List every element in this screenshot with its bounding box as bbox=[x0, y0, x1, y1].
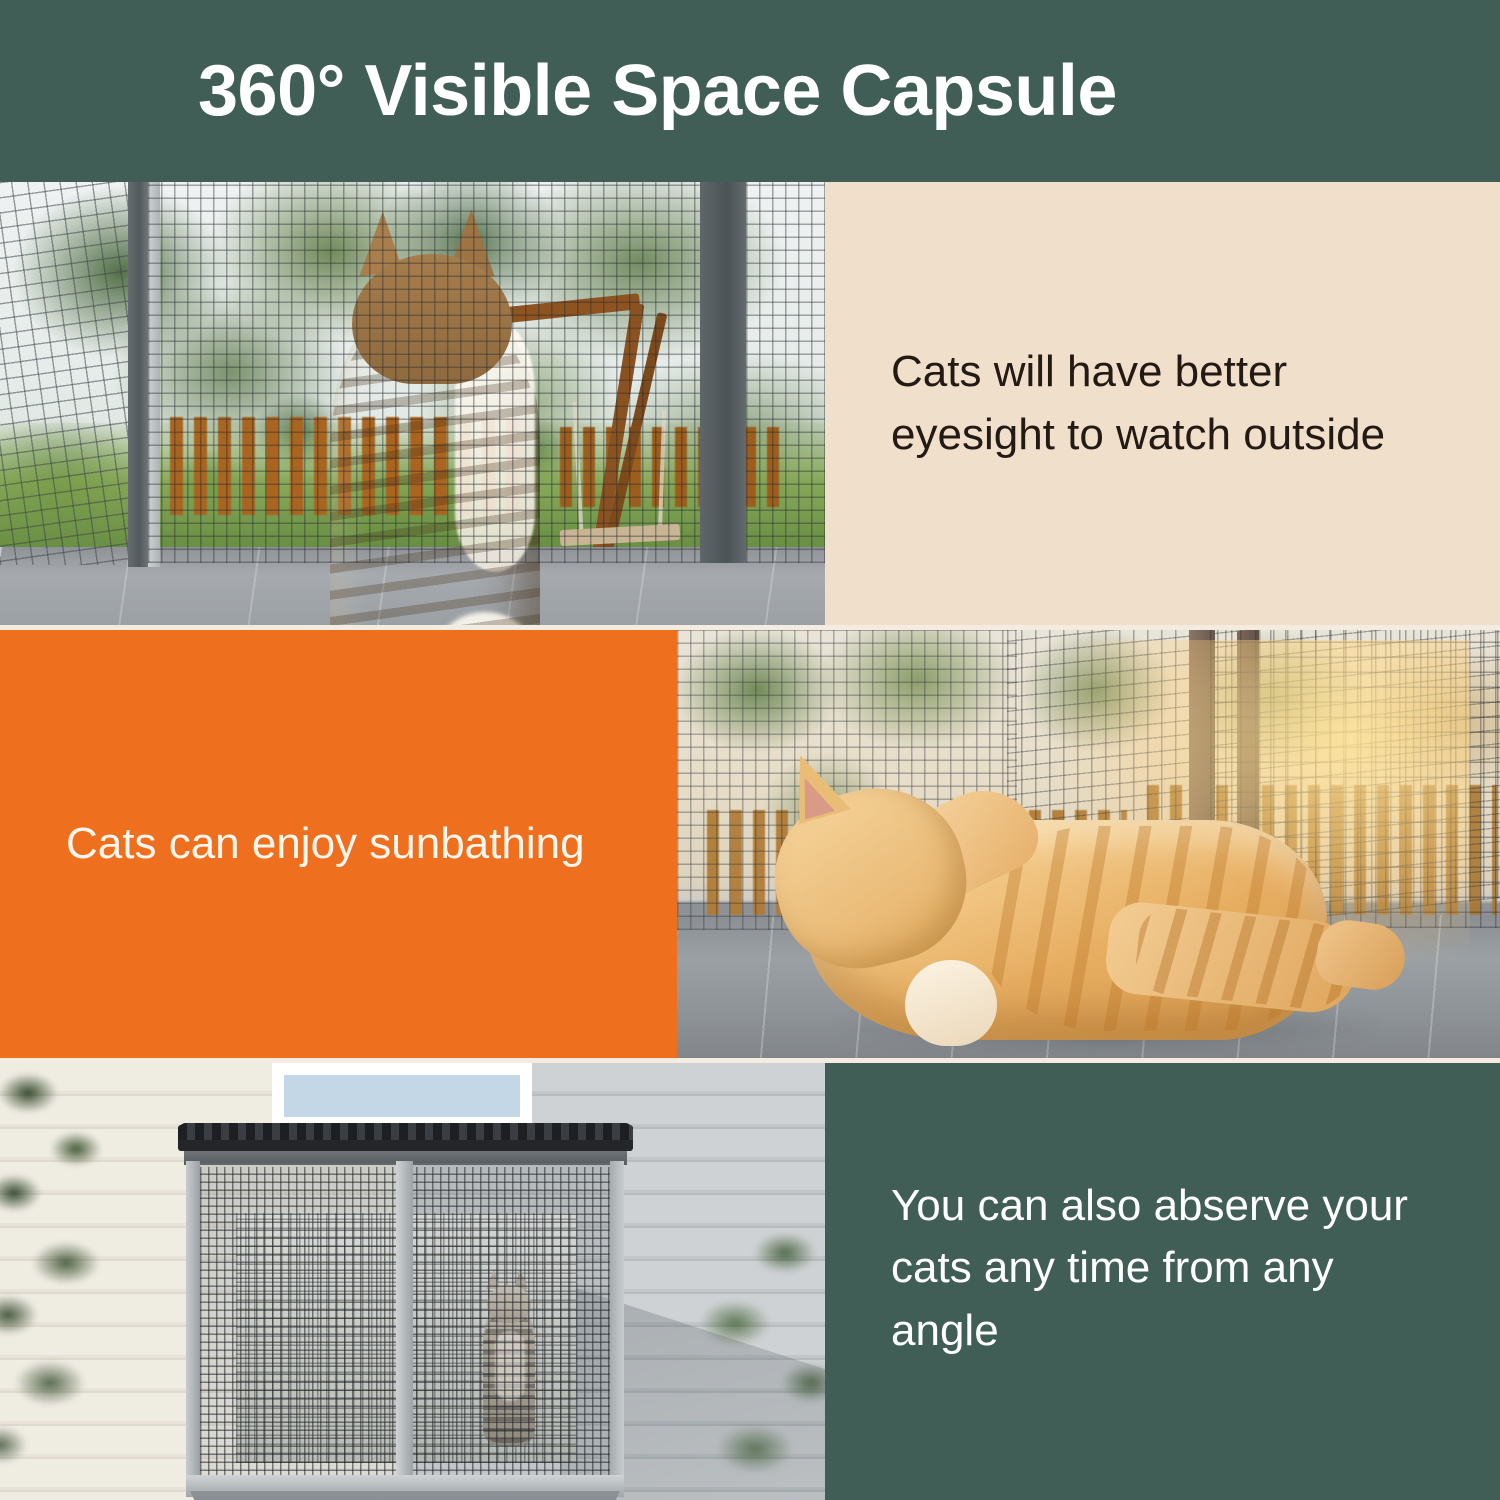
poster-header: 360° Visible Space Capsule bbox=[0, 0, 1500, 182]
feature-row-1: Cats will have better eyesight to watch … bbox=[0, 182, 1500, 625]
foreground-foliage-right bbox=[615, 1213, 825, 1500]
catio-post-left bbox=[128, 182, 148, 567]
catio-roof-corrugation bbox=[178, 1123, 633, 1140]
feature-row-3: You can also abserve your cats any time … bbox=[0, 1063, 1500, 1500]
catio-side-mesh-wall bbox=[0, 182, 130, 565]
page-title: 360° Visible Space Capsule bbox=[198, 55, 1117, 127]
eyesight-text: Cats will have better eyesight to watch … bbox=[825, 341, 1500, 466]
foreground-foliage-left bbox=[0, 1063, 190, 1500]
cat-watching-garden-photo bbox=[0, 182, 825, 625]
lounging-cat-front-paw bbox=[905, 960, 997, 1046]
observe-text: You can also abserve your cats any time … bbox=[825, 1063, 1500, 1362]
observe-text-panel: You can also abserve your cats any time … bbox=[825, 1063, 1500, 1500]
product-feature-poster: 360° Visible Space Capsule bbox=[0, 0, 1500, 1500]
catio-frame-middle bbox=[396, 1161, 413, 1491]
sunbathing-text: Cats can enjoy sunbathing bbox=[0, 813, 677, 875]
catio-post-right bbox=[700, 182, 746, 563]
catio-base-shelf bbox=[190, 1491, 620, 1500]
window-catio-unit-photo bbox=[0, 1063, 825, 1500]
sunbathing-text-panel: Cats can enjoy sunbathing bbox=[0, 630, 677, 1058]
house-window bbox=[272, 1063, 532, 1129]
eyesight-text-panel: Cats will have better eyesight to watch … bbox=[825, 182, 1500, 625]
feature-row-2: Cats can enjoy sunbathing bbox=[0, 630, 1500, 1058]
cat-sunbathing-photo bbox=[677, 630, 1500, 1058]
